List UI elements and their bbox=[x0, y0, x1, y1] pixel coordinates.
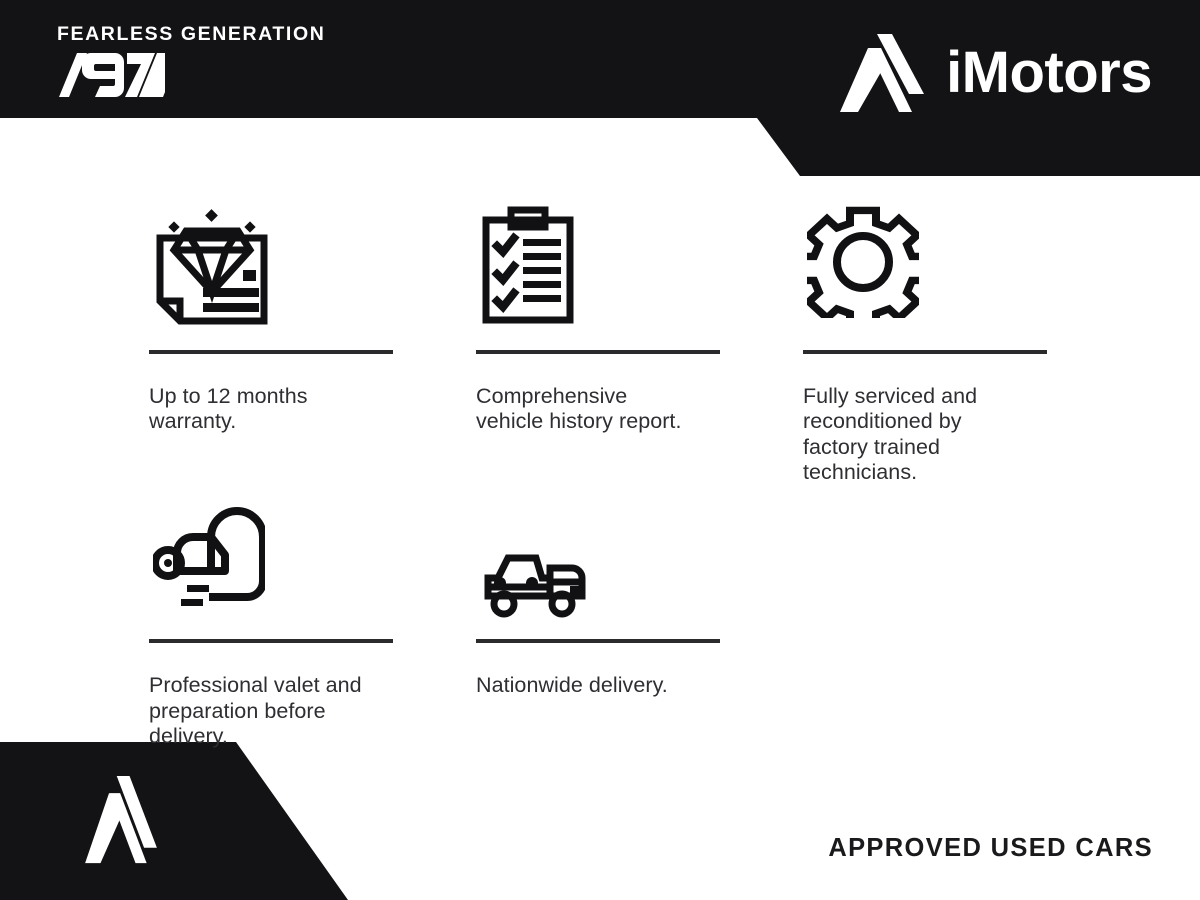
feature-icon-slot bbox=[476, 507, 721, 639]
footer-tagline: APPROVED USED CARS bbox=[828, 834, 1153, 863]
vacuum-cleaner-icon bbox=[153, 507, 265, 611]
feature-text: Professional valet and preparation befor… bbox=[149, 673, 394, 749]
diamond-certificate-icon bbox=[153, 206, 271, 326]
feature-icon-slot bbox=[149, 206, 394, 350]
brand-block: iMotors bbox=[840, 34, 1152, 112]
feature-card-delivery: Nationwide delivery. bbox=[476, 507, 721, 749]
feature-text: Comprehensive vehicle history report. bbox=[476, 384, 721, 435]
feature-card-serviced: Fully serviced and reconditioned by fact… bbox=[803, 206, 1048, 485]
footer-band bbox=[0, 742, 360, 900]
feature-card-history-report: Comprehensive vehicle history report. bbox=[476, 206, 721, 485]
imotors-chevron-logo-icon bbox=[840, 34, 924, 112]
feature-divider bbox=[476, 350, 720, 354]
fearless-generation-block: FEARLESS GENERATION bbox=[57, 25, 325, 97]
feature-icon-slot bbox=[149, 507, 394, 639]
feature-divider bbox=[803, 350, 1047, 354]
feature-text: Up to 12 months warranty. bbox=[149, 384, 394, 435]
clipboard-checklist-icon bbox=[480, 206, 576, 326]
feature-divider bbox=[149, 350, 393, 354]
feature-divider bbox=[149, 639, 393, 643]
brand-name: iMotors bbox=[946, 44, 1152, 102]
footer-imotors-chevron-logo-icon bbox=[85, 776, 157, 870]
year-1971-mark bbox=[57, 53, 165, 97]
poster-canvas: FEARLESS GENERATION bbox=[0, 0, 1200, 900]
feature-icon-slot bbox=[803, 206, 1048, 350]
features-row-2: Professional valet and preparation befor… bbox=[149, 507, 1059, 749]
feature-divider bbox=[476, 639, 720, 643]
feature-card-warranty: Up to 12 months warranty. bbox=[149, 206, 394, 485]
gear-cog-icon bbox=[807, 206, 919, 318]
feature-text: Fully serviced and reconditioned by fact… bbox=[803, 384, 1048, 485]
feature-card-valet: Professional valet and preparation befor… bbox=[149, 507, 394, 749]
fearless-generation-tagline: FEARLESS GENERATION bbox=[57, 25, 325, 45]
feature-text: Nationwide delivery. bbox=[476, 673, 721, 698]
car-transporter-truck-icon bbox=[480, 546, 586, 620]
features-grid: Up to 12 months warranty. bbox=[149, 206, 1059, 750]
feature-icon-slot bbox=[476, 206, 721, 350]
features-row-1: Up to 12 months warranty. bbox=[149, 206, 1059, 485]
